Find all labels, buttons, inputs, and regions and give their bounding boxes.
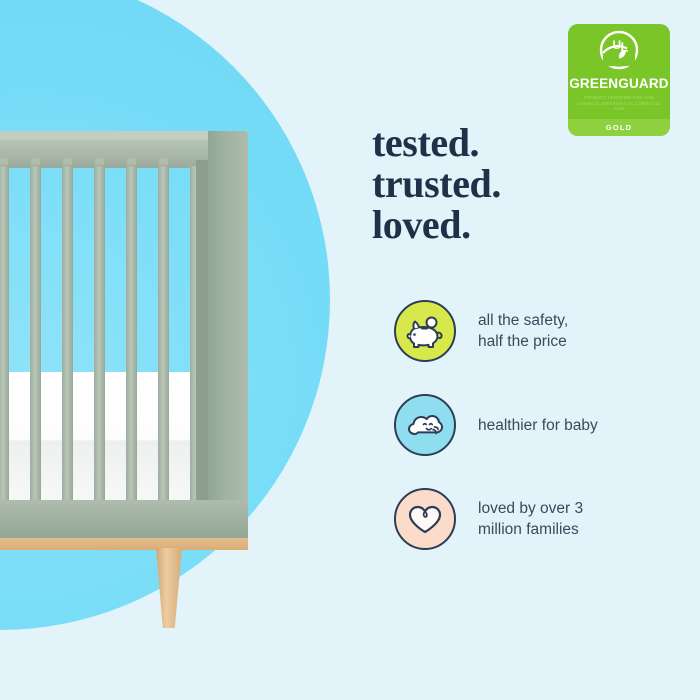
page-title: tested. trusted. loved.	[372, 122, 672, 245]
heart-icon	[394, 488, 456, 550]
feature-label-loved-line2: million families	[478, 519, 583, 540]
headline-line-2: trusted.	[372, 163, 672, 204]
crib-wood-base-bar	[0, 538, 248, 550]
headline-line-1: tested.	[372, 122, 672, 163]
marketing-image: U L GREENGUARD PRODUCT CERTIFIED FOR LOW…	[0, 0, 700, 700]
feature-label-loved-line1: loved by over 3	[478, 498, 583, 519]
headline-line-3: loved.	[372, 204, 672, 245]
feature-label-healthier-line1: healthier for baby	[478, 415, 598, 436]
badge-title: GREENGUARD	[569, 76, 669, 91]
crib-bottom-rail	[0, 500, 248, 540]
smiling-cloud-icon	[394, 394, 456, 456]
badge-fine-print: PRODUCT CERTIFIED FOR LOW CHEMICAL EMISS…	[576, 95, 662, 112]
crib-slats	[0, 166, 212, 518]
feature-label-healthier: healthier for baby	[478, 415, 598, 436]
piggy-bank-icon	[394, 300, 456, 362]
feature-item-loved: loved by over 3 million families	[394, 488, 694, 550]
crib-end-panel	[208, 131, 248, 535]
feature-item-healthier: healthier for baby	[394, 394, 694, 456]
feature-list: all the safety, half the price	[394, 300, 694, 582]
sage-green-crib-photo	[0, 140, 290, 570]
feature-label-safety-line2: half the price	[478, 331, 568, 352]
wooden-crib-leg	[156, 548, 182, 628]
feature-label-loved: loved by over 3 million families	[478, 498, 583, 540]
feature-label-safety-line1: all the safety,	[478, 310, 568, 331]
ul-greenguard-leaf-icon: U L	[599, 30, 639, 75]
greenguard-gold-badge: U L GREENGUARD PRODUCT CERTIFIED FOR LOW…	[568, 24, 670, 136]
feature-item-safety: all the safety, half the price	[394, 300, 694, 362]
feature-label-safety: all the safety, half the price	[478, 310, 568, 352]
